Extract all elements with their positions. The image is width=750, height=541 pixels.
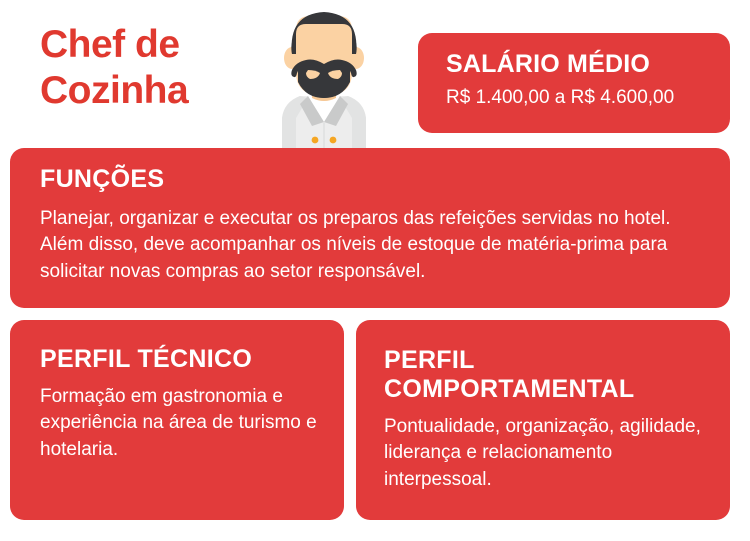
perfil-comportamental-card-text: Pontualidade, organização, agilidade, li… <box>384 414 706 495</box>
perfil-comportamental-card-title: PERFIL COMPORTAMENTAL <box>384 346 644 404</box>
chef-jacket-icon <box>282 96 366 152</box>
page-title-line-2: Cozinha <box>40 68 255 114</box>
perfil-tecnico-card-title: PERFIL TÉCNICO <box>40 346 320 374</box>
funcoes-card-text: Planejar, organizar e executar os prepar… <box>40 206 702 287</box>
salary-card: SALÁRIO MÉDIO R$ 1.400,00 a R$ 4.600,00 <box>418 33 730 133</box>
page-title-line-1: Chef de <box>40 22 255 68</box>
salary-card-value: R$ 1.400,00 a R$ 4.600,00 <box>446 87 710 110</box>
jacket-button-icon <box>330 137 337 144</box>
perfil-tecnico-card: PERFIL TÉCNICO Formação em gastronomia e… <box>10 320 344 520</box>
infographic-root: Chef de Cozinha <box>0 0 750 541</box>
page-title: Chef de Cozinha <box>40 22 255 114</box>
jacket-button-icon <box>312 137 319 144</box>
perfil-tecnico-card-text: Formação em gastronomia e experiência na… <box>40 384 320 465</box>
chef-avatar <box>238 0 410 152</box>
funcoes-card: FUNÇÕES Planejar, organizar e executar o… <box>10 148 730 308</box>
salary-card-title: SALÁRIO MÉDIO <box>446 51 710 79</box>
perfil-comportamental-card: PERFIL COMPORTAMENTAL Pontualidade, orga… <box>356 320 730 520</box>
funcoes-card-title: FUNÇÕES <box>40 166 702 194</box>
